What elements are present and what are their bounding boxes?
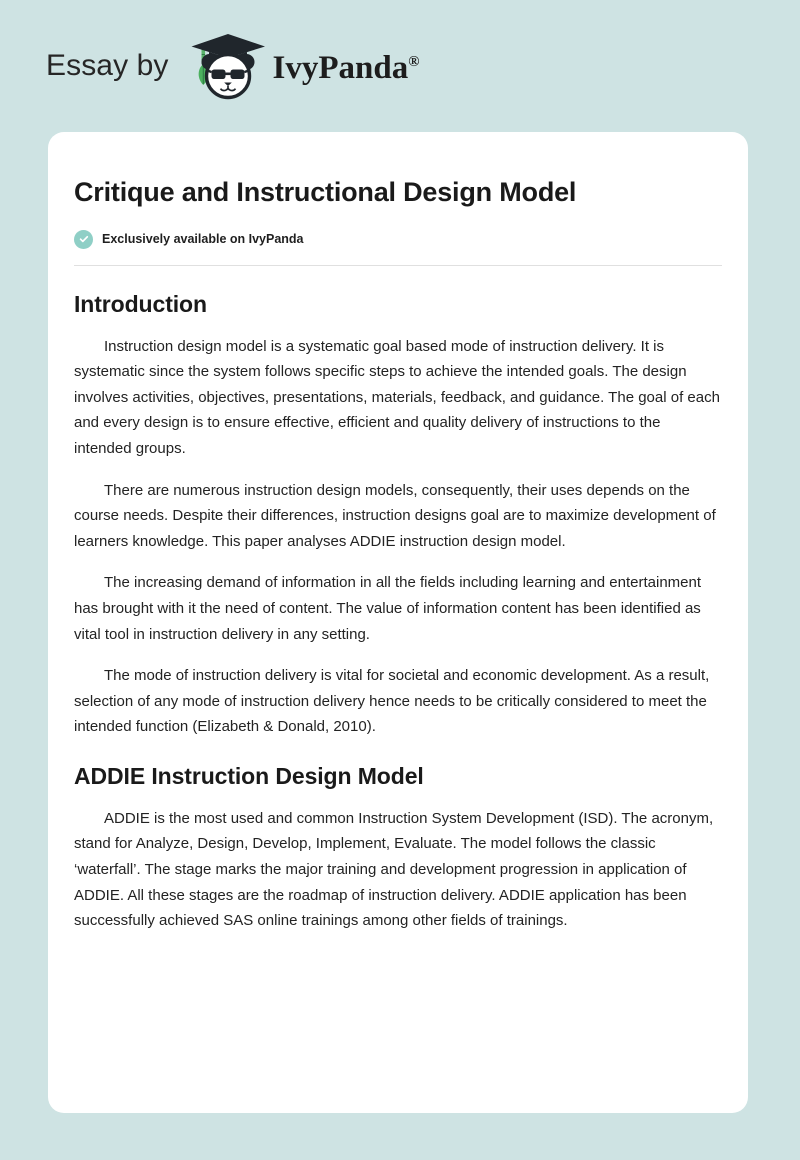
ivypanda-wordmark: IvyPanda® [273,52,420,85]
exclusivity-badge-label: Exclusively available on IvyPanda [102,233,304,246]
paragraph: ADDIE is the most used and common Instru… [74,806,722,934]
paragraph: The mode of instruction delivery is vita… [74,663,722,740]
paragraph: Instruction design model is a systematic… [74,334,722,462]
brand-name-text: IvyPanda [273,50,409,86]
panda-graduate-logo-icon [185,31,271,101]
essay-by-label: Essay by [46,51,169,81]
ivypanda-logo-lockup[interactable]: IvyPanda® [185,31,420,101]
registered-trademark-symbol: ® [408,54,419,70]
header-divider [74,265,722,266]
exclusivity-badge: Exclusively available on IvyPanda [74,230,722,249]
essay-page: Essay by [0,0,800,1160]
document-card: Critique and Instructional Design Model … [48,132,748,1113]
section-heading-introduction: Introduction [74,290,722,320]
check-circle-icon [74,230,93,249]
brand-header: Essay by [0,0,800,132]
paragraph: The increasing demand of information in … [74,570,722,647]
paragraph: There are numerous instruction design mo… [74,478,722,555]
page-title: Critique and Instructional Design Model [74,176,722,210]
section-heading-addie-instruction-design-model: ADDIE Instruction Design Model [74,762,722,792]
